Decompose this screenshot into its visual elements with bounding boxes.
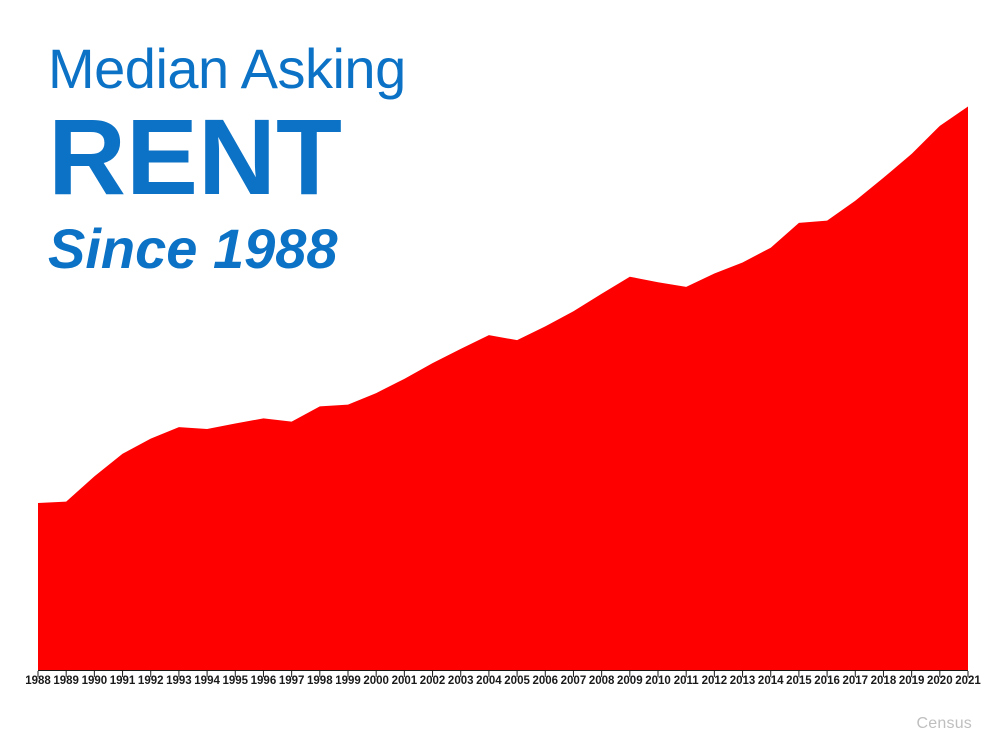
x-axis-tick-label: 1997: [279, 674, 305, 689]
x-axis-tick-label: 2013: [730, 674, 756, 689]
x-axis-tick-label: 2005: [504, 674, 530, 689]
x-axis-tick-label: 2003: [448, 674, 474, 689]
x-axis-tick-label: 1992: [138, 674, 164, 689]
x-axis-tick-label: 2008: [589, 674, 615, 689]
x-axis-tick-label: 1991: [110, 674, 136, 689]
x-axis-tick-label: 2020: [927, 674, 953, 689]
x-axis-tick-label: 1993: [166, 674, 192, 689]
headline-line-emphasis: RENT: [48, 103, 568, 211]
x-axis-tick-label: 2010: [645, 674, 671, 689]
source-attribution: Census: [917, 715, 972, 733]
x-axis-tick-label: 2002: [420, 674, 446, 689]
x-axis-tick-label: 1998: [307, 674, 333, 689]
x-axis-tick-label: 1996: [251, 674, 277, 689]
x-axis-tick-label: 2001: [392, 674, 418, 689]
x-axis-tick-label: 1989: [53, 674, 79, 689]
x-axis-tick-label: 1999: [335, 674, 361, 689]
x-axis-tick-label: 1994: [194, 674, 220, 689]
x-axis-tick-label: 2016: [814, 674, 840, 689]
x-axis-tick-label: 2006: [532, 674, 558, 689]
x-axis-tick-label: 2021: [955, 674, 981, 689]
x-axis-tick-label: 2000: [363, 674, 389, 689]
x-axis-tick-label: 2012: [702, 674, 728, 689]
x-axis-tick-label: 2009: [617, 674, 643, 689]
headline-line-primary: Median Asking: [48, 40, 568, 97]
headline-block: Median Asking RENT Since 1988: [48, 40, 568, 277]
x-axis-tick-label: 2019: [899, 674, 925, 689]
x-axis-tick-label: 2007: [561, 674, 587, 689]
infographic-canvas: Median Asking RENT Since 1988 1988198919…: [0, 0, 1000, 750]
x-axis-tick-label: 2004: [476, 674, 502, 689]
x-axis-tick-label: 1995: [222, 674, 248, 689]
x-axis-label-row: 1988198919901991199219931994199519961997…: [0, 674, 1000, 694]
x-axis-tick-label: 2017: [842, 674, 868, 689]
x-axis-tick-label: 2018: [871, 674, 897, 689]
x-axis-tick-label: 2014: [758, 674, 784, 689]
x-axis-tick-label: 2015: [786, 674, 812, 689]
x-axis-tick-label: 1990: [82, 674, 108, 689]
headline-line-subtitle: Since 1988: [48, 221, 568, 277]
x-axis-tick-label: 2011: [674, 674, 699, 689]
x-axis-tick-label: 1988: [25, 674, 51, 689]
